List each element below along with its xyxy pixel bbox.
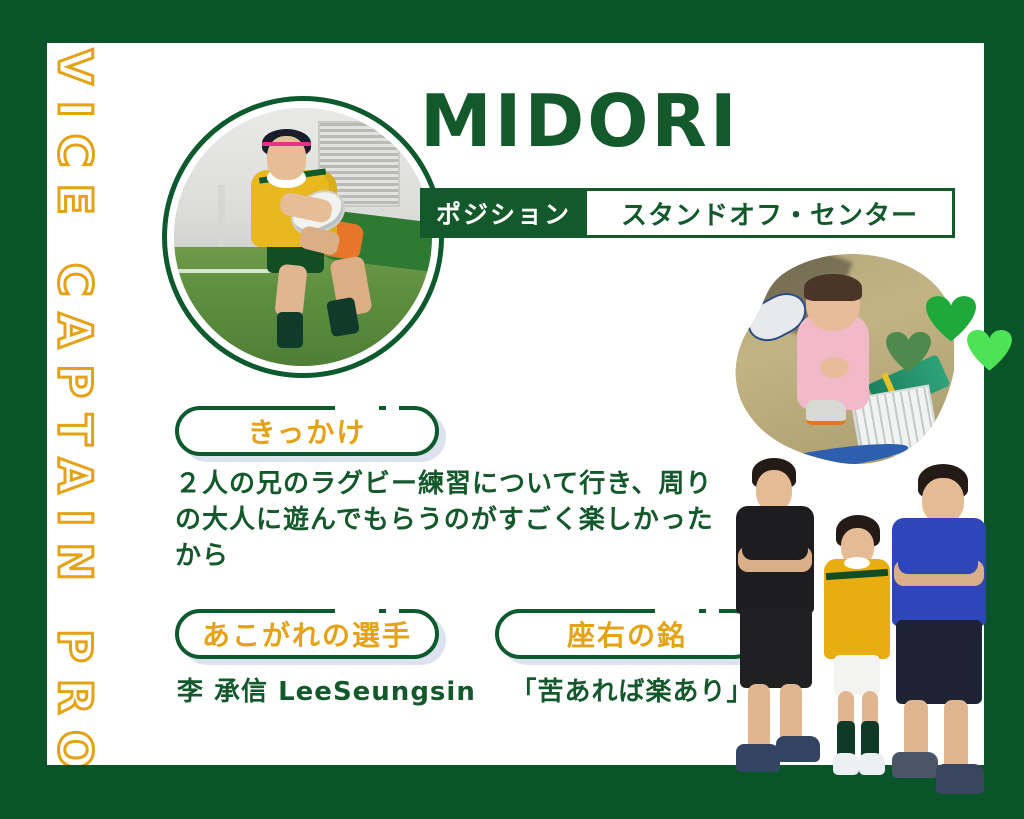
person-left-adult (720, 458, 830, 778)
p1-shorts (740, 608, 812, 688)
blob-baby-shoe (806, 400, 846, 425)
photo-player-sock (277, 312, 303, 348)
p1-sleeves (742, 540, 808, 560)
p3-leg-left (904, 700, 928, 758)
p2-shoe-left (833, 753, 859, 775)
blob-baby-hair (804, 274, 862, 302)
pill-label-zayu: 座右の銘 (567, 614, 687, 654)
position-label: ポジション (420, 188, 587, 238)
heart-light-icon (967, 330, 1012, 372)
pill-dash-gap-1 (335, 406, 379, 410)
p1-shoe-left (736, 744, 780, 772)
pill-dash-gap-1 (655, 609, 699, 613)
pill-dash-gap-2 (386, 406, 399, 410)
profile-poster: VICE CAPTAIN PROFILE (0, 0, 1024, 819)
p3-sleeves (898, 552, 978, 574)
avatar (162, 96, 444, 378)
p2-shorts (834, 655, 880, 695)
heart-dark-icon (886, 332, 931, 374)
section-pill-kikkake: きっかけ (175, 406, 439, 456)
p1-shoe-right (776, 736, 820, 762)
page-title: MIDORI (420, 85, 740, 157)
pill-body: あこがれの選手 (175, 609, 439, 659)
kikkake-answer: ２人の兄のラグビー練習について行き、周りの大人に遊んでもらうのがすごく楽しかった… (175, 467, 715, 575)
p3-shoe-left (892, 752, 938, 778)
pill-body: きっかけ (175, 406, 439, 456)
p1-leg-left (748, 684, 770, 750)
vertical-ribbon-text: VICE CAPTAIN PROFILE (48, 49, 102, 765)
p1-leg-right (780, 684, 802, 742)
section-pill-akogare: あこがれの選手 (175, 609, 439, 659)
p3-leg-right (944, 700, 968, 770)
person-right-adult (878, 464, 996, 794)
position-value: スタンドオフ・センター (587, 188, 955, 238)
p2-collar (844, 557, 870, 569)
photo-player-cap-stripe (262, 142, 311, 146)
three-people-group-photo (700, 450, 1000, 795)
pill-label-akogare: あこがれの選手 (202, 614, 412, 654)
pill-label-kikkake: きっかけ (248, 411, 367, 451)
akogare-answer: 李 承信 LeeSeungsin (177, 671, 447, 708)
pill-dash-gap-1 (335, 609, 379, 613)
pill-dash-gap-2 (386, 609, 399, 613)
vertical-ribbon-label: VICE CAPTAIN PROFILE (47, 43, 111, 765)
p3-shorts (896, 620, 982, 704)
p3-shoe-right (936, 764, 984, 794)
position-row: ポジション スタンドオフ・センター (420, 188, 955, 238)
blob-baby-hand (820, 357, 849, 378)
rugby-action-photo (174, 108, 432, 366)
